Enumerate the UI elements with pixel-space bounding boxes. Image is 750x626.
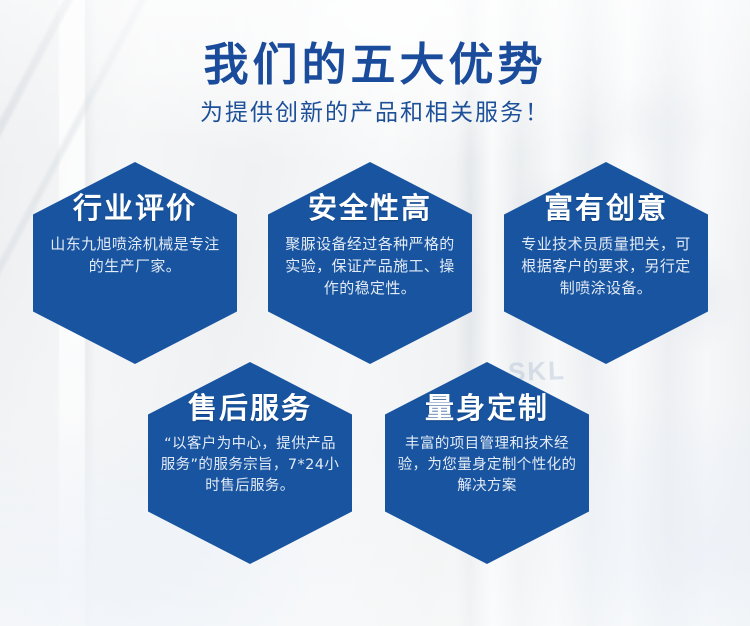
advantage-card-high-safety[interactable]: 安全性高 聚脲设备经过各种严格的实验，保证产品施工、操作的稳定性。 [268,162,472,364]
advantage-title: 售后服务 [188,392,312,425]
page-subtitle: 为提供创新的产品和相关服务！ [0,100,750,128]
advantage-description: “以客户为中心，提供产品服务”的服务宗旨，7*24小时售后服务。 [158,434,342,497]
advantage-title: 量身定制 [425,392,549,425]
advantage-description: 丰富的项目管理和技术经验，为您量身定制个性化的解决方案 [395,434,579,497]
advantage-description: 聚脲设备经过各种严格的实验，保证产品施工、操作的稳定性。 [280,234,460,299]
poster-heading: 我们的五大优势 为提供创新的产品和相关服务！ [0,40,750,128]
advantage-description: 专业技术员质量把关，可根据客户的要求，另行定制喷涂设备。 [516,234,696,299]
advantage-card-rich-creativity[interactable]: 富有创意 专业技术员质量把关，可根据客户的要求，另行定制喷涂设备。 [504,162,708,364]
advantage-card-after-sales-service[interactable]: 售后服务 “以客户为中心，提供产品服务”的服务宗旨，7*24小时售后服务。 [148,362,352,564]
advantage-title: 安全性高 [308,192,432,225]
advantage-card-industry-reputation[interactable]: 行业评价 山东九旭喷涂机械是专注的生产厂家。 [33,162,237,364]
advantage-title: 行业评价 [73,192,197,225]
advantage-title: 富有创意 [544,192,668,225]
advantages-poster: SKL 我们的五大优势 为提供创新的产品和相关服务！ 行业评价 山东九旭喷涂机械… [0,0,750,626]
page-title: 我们的五大优势 [0,40,750,90]
advantage-card-tailored-customization[interactable]: 量身定制 丰富的项目管理和技术经验，为您量身定制个性化的解决方案 [385,362,589,564]
advantage-description: 山东九旭喷涂机械是专注的生产厂家。 [45,234,225,278]
